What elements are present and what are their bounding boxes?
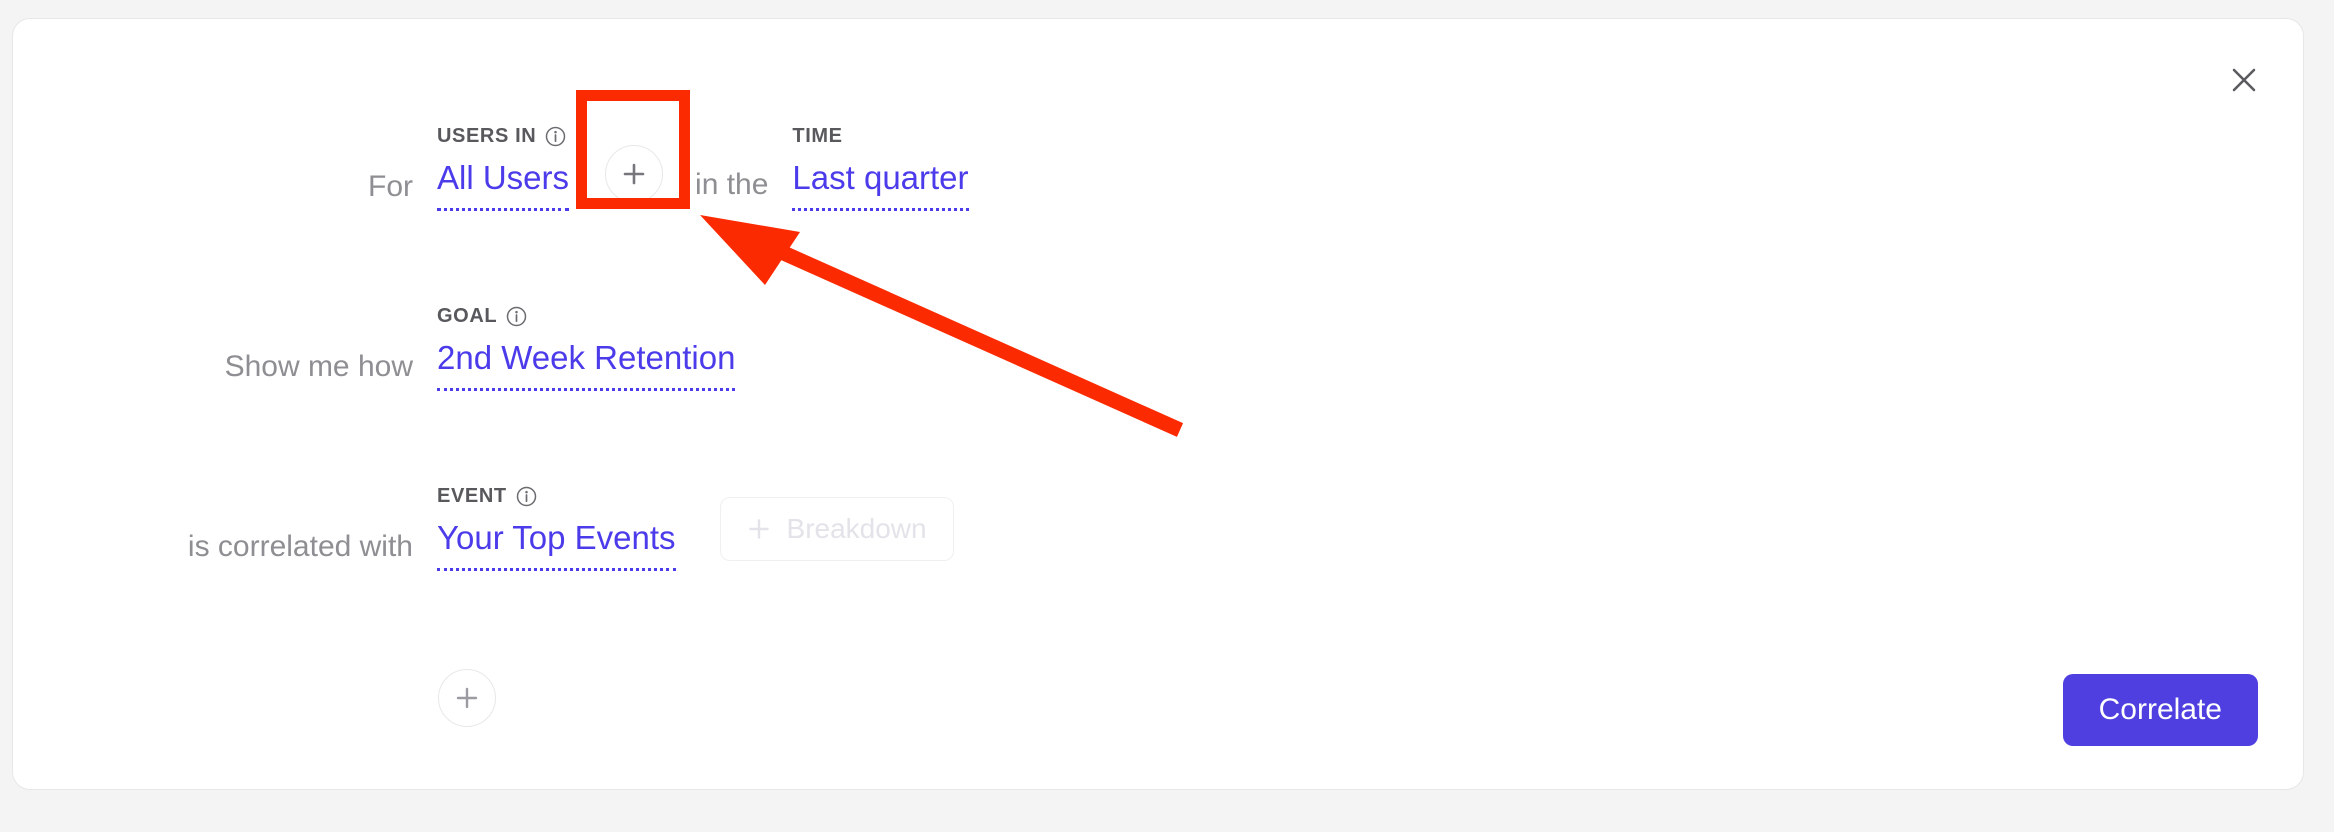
breakdown-label: Breakdown [787,513,927,545]
add-users-filter-wrap [569,145,663,211]
info-icon[interactable] [506,306,527,327]
goal-label-text: GOAL [437,305,497,328]
row-prefix-for: For [13,169,437,211]
add-step-button[interactable] [438,669,496,727]
event-label-text: EVENT [437,485,507,508]
goal-field: GOAL 2nd Week Retention [437,305,735,391]
add-step-wrap [438,669,496,727]
users-in-label-text: USERS IN [437,125,536,148]
users-in-value[interactable]: All Users [437,158,569,211]
correlate-button[interactable]: Correlate [2063,674,2258,746]
goal-label: GOAL [437,305,735,328]
screen-root: For USERS IN All Users [0,0,2334,832]
time-label: TIME [792,125,968,148]
correlation-query-card: For USERS IN All Users [12,18,2304,790]
users-in-label: USERS IN [437,125,569,148]
event-value[interactable]: Your Top Events [437,518,676,571]
add-users-filter-button[interactable] [605,145,663,203]
close-icon[interactable] [2221,57,2267,103]
plus-icon [747,517,771,541]
row-prefix-is-correlated-with: is correlated with [13,529,437,571]
goal-value[interactable]: 2nd Week Retention [437,338,735,391]
row-suffix-in-the: in the [663,167,792,211]
query-row-event: is correlated with EVENT Your Top Events [13,479,1213,571]
query-row-users: For USERS IN All Users [13,119,1213,211]
time-value[interactable]: Last quarter [792,158,968,211]
info-icon[interactable] [516,486,537,507]
query-row-goal: Show me how GOAL 2nd Week Retention [13,299,1213,391]
row-prefix-show-me-how: Show me how [13,349,437,391]
time-field: TIME Last quarter [792,125,968,211]
add-breakdown-button[interactable]: Breakdown [720,497,954,561]
users-in-field: USERS IN All Users [437,125,569,211]
time-label-text: TIME [792,125,842,148]
info-icon[interactable] [545,126,566,147]
event-field: EVENT Your Top Events [437,485,676,571]
breakdown-wrap: Breakdown [676,497,954,571]
event-label: EVENT [437,485,676,508]
